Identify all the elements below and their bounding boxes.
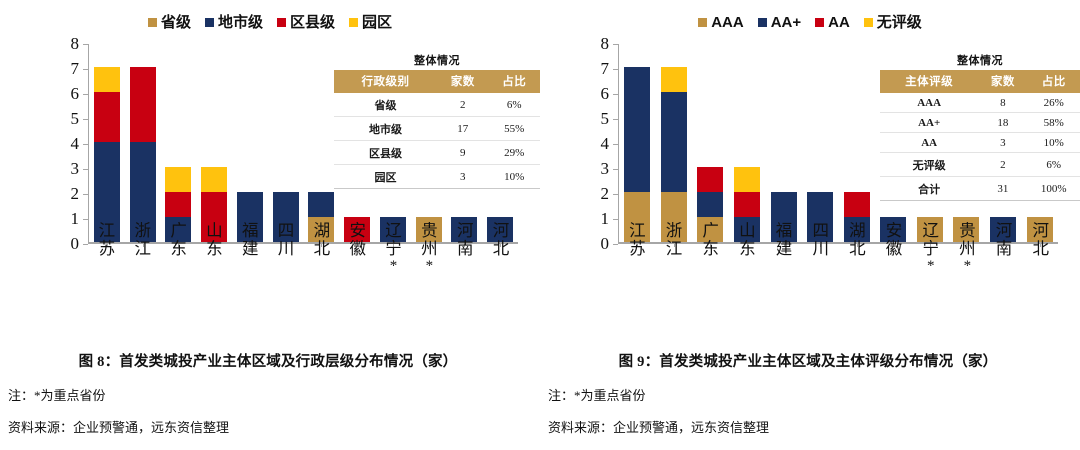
y-tick-label: 3 <box>71 159 80 179</box>
bar-column[interactable] <box>765 44 802 242</box>
bar-stack <box>130 67 156 242</box>
legend-item-园区: 园区 <box>349 15 392 30</box>
y-tick-label: 5 <box>71 109 80 129</box>
x-axis-label: 江苏 <box>89 222 125 274</box>
y-tick <box>613 44 618 45</box>
table-row: 区县级929% <box>334 141 540 165</box>
bar-stack <box>624 67 650 242</box>
y-tick-label: 0 <box>71 234 80 254</box>
table-title: 整体情况 <box>880 52 1080 68</box>
table-body: 省级26%地市级1755%区县级929%园区310% <box>334 93 540 189</box>
table-head: 主体评级家数占比 <box>880 70 1080 93</box>
table-column-header: 占比 <box>1027 70 1080 93</box>
y-tick-label: 2 <box>601 184 610 204</box>
x-axis-label: 湖北 <box>304 222 340 274</box>
y-tick-label: 1 <box>601 209 610 229</box>
x-axis-label: 河南 <box>447 222 483 274</box>
legend-label: AA+ <box>771 15 801 30</box>
y-tick <box>613 219 618 220</box>
table-cell: 10% <box>1027 133 1080 153</box>
bar-segment-AA[interactable] <box>844 192 870 217</box>
table-cell: 55% <box>489 117 541 141</box>
figure-8-panel: 省级地市级区县级园区 012345678 江苏浙江广东山东福建四川湖北安徽辽宁*… <box>0 0 540 450</box>
table-body: AAA826%AA+1858%AA310%无评级26%合计31100% <box>880 93 1080 201</box>
x-labels-right: 江苏浙江广东山东福建四川湖北安徽辽宁*贵州*河南河北 <box>619 222 1059 274</box>
table-column-header: 行政级别 <box>334 70 437 93</box>
bar-column[interactable] <box>89 44 125 242</box>
x-axis-label: 河北 <box>1022 222 1059 274</box>
table-cell: AA+ <box>880 113 978 133</box>
bar-segment-AA[interactable] <box>734 192 760 217</box>
table-cell: 100% <box>1027 177 1080 201</box>
table-row: AA+1858% <box>880 113 1080 133</box>
y-tick-label: 7 <box>601 59 610 79</box>
legend-item-AAA: AAA <box>698 15 744 30</box>
legend-label: 无评级 <box>877 15 922 30</box>
y-tick-label: 8 <box>601 34 610 54</box>
table-row: 合计31100% <box>880 177 1080 201</box>
y-tick-label: 0 <box>601 234 610 254</box>
info-table: 主体评级家数占比 AAA826%AA+1858%AA310%无评级26%合计31… <box>880 70 1080 201</box>
legend-left: 省级地市级区县级园区 <box>0 0 540 34</box>
figure-9-panel: AAAAA+AA无评级 012345678 江苏浙江广东山东福建四川湖北安徽辽宁… <box>540 0 1080 450</box>
y-tick <box>613 169 618 170</box>
legend-label: AAA <box>711 15 744 30</box>
y-tick-label: 8 <box>71 34 80 54</box>
bar-column[interactable] <box>802 44 839 242</box>
table-cell: 园区 <box>334 165 437 189</box>
x-axis-label: 浙江 <box>656 222 693 274</box>
table-cell: AAA <box>880 93 978 113</box>
x-axis-label: 广东 <box>161 222 197 274</box>
table-column-header: 主体评级 <box>880 70 978 93</box>
table-head: 行政级别家数占比 <box>334 70 540 93</box>
bar-segment-地市级[interactable] <box>308 192 334 217</box>
y-tick <box>83 219 88 220</box>
x-axis-label: 安徽 <box>876 222 913 274</box>
legend-item-AA+: AA+ <box>758 15 801 30</box>
y-tick-label: 6 <box>601 84 610 104</box>
table-row: AA310% <box>880 133 1080 153</box>
table-cell: 10% <box>489 165 541 189</box>
y-tick <box>83 144 88 145</box>
figure-source: 资料来源：企业预警通，远东资信整理 <box>546 417 1070 436</box>
legend-item-区县级: 区县级 <box>277 15 335 30</box>
table-cell: AA <box>880 133 978 153</box>
legend-item-AA: AA <box>815 15 850 30</box>
y-tick-label: 1 <box>71 209 80 229</box>
bar-segment-园区[interactable] <box>165 167 191 192</box>
legend-item-无评级: 无评级 <box>864 15 922 30</box>
x-axis-label: 湖北 <box>839 222 876 274</box>
legend-label: 地市级 <box>218 15 263 30</box>
legend-swatch-icon <box>815 18 824 27</box>
legend-label: 园区 <box>362 15 392 30</box>
figure-note: 注：*为重点省份 <box>6 385 530 404</box>
y-tick-label: 7 <box>71 59 80 79</box>
table-cell: 29% <box>489 141 541 165</box>
figure-source: 资料来源：企业预警通，远东资信整理 <box>6 417 530 436</box>
table-cell: 26% <box>1027 93 1080 113</box>
table-cell: 2 <box>437 93 489 117</box>
y-tick <box>83 94 88 95</box>
bar-column[interactable] <box>838 44 875 242</box>
x-axis-label: 浙江 <box>125 222 161 274</box>
y-tick <box>83 194 88 195</box>
bar-column[interactable] <box>268 44 304 242</box>
bar-segment-园区[interactable] <box>201 167 227 192</box>
y-tick <box>613 69 618 70</box>
table-cell: 省级 <box>334 93 437 117</box>
table-title: 整体情况 <box>334 52 540 68</box>
legend-label: 区县级 <box>290 15 335 30</box>
table-cell: 9 <box>437 141 489 165</box>
bar-column[interactable] <box>729 44 766 242</box>
caption-block-left: 图 8：首发类城投产业主体区域及行政层级分布情况（家） 注：*为重点省份 资料来… <box>0 350 540 449</box>
table-cell: 3 <box>978 133 1027 153</box>
y-tick <box>83 44 88 45</box>
figure-caption: 图 8：首发类城投产业主体区域及行政层级分布情况（家） <box>6 350 530 371</box>
figure-caption: 图 9：首发类城投产业主体区域及主体评级分布情况（家） <box>546 350 1070 371</box>
bar-column[interactable] <box>656 44 693 242</box>
y-tick <box>613 94 618 95</box>
table-row: 无评级26% <box>880 153 1080 177</box>
x-axis-label: 四川 <box>268 222 304 274</box>
bar-column[interactable] <box>692 44 729 242</box>
bar-segment-区县级[interactable] <box>94 92 120 142</box>
table-cell: 合计 <box>880 177 978 201</box>
bar-stack <box>94 67 120 242</box>
table-cell: 区县级 <box>334 141 437 165</box>
summary-table-left: 整体情况 行政级别家数占比 省级26%地市级1755%区县级929%园区310% <box>334 52 540 189</box>
legend-right: AAAAA+AA无评级 <box>540 0 1080 34</box>
table-cell: 58% <box>1027 113 1080 133</box>
x-axis-label: 辽宁* <box>912 222 949 274</box>
table-header-row: 行政级别家数占比 <box>334 70 540 93</box>
legend-swatch-icon <box>148 18 157 27</box>
x-axis-label: 贵州* <box>949 222 986 274</box>
y-tick-label: 5 <box>601 109 610 129</box>
table-row: 省级26% <box>334 93 540 117</box>
table-row: AAA826% <box>880 93 1080 113</box>
legend-swatch-icon <box>205 18 214 27</box>
legend-swatch-icon <box>758 18 767 27</box>
table-cell: 无评级 <box>880 153 978 177</box>
bar-segment-区县级[interactable] <box>130 67 156 142</box>
x-axis-label: 福建 <box>766 222 803 274</box>
x-axis-label: 安徽 <box>340 222 376 274</box>
bar-segment-AA[interactable] <box>697 167 723 192</box>
legend-swatch-icon <box>277 18 286 27</box>
legend-swatch-icon <box>864 18 873 27</box>
y-tick <box>83 169 88 170</box>
table-cell: 31 <box>978 177 1027 201</box>
bar-segment-AA+[interactable] <box>697 192 723 217</box>
legend-item-省级: 省级 <box>148 15 191 30</box>
x-axis-label: 江苏 <box>619 222 656 274</box>
legend-item-地市级: 地市级 <box>205 15 263 30</box>
table-row: 地市级1755% <box>334 117 540 141</box>
x-axis-label: 山东 <box>196 222 232 274</box>
y-tick <box>83 244 88 245</box>
table-cell: 18 <box>978 113 1027 133</box>
y-tick <box>83 119 88 120</box>
x-labels-left: 江苏浙江广东山东福建四川湖北安徽辽宁*贵州*河南河北 <box>89 222 519 274</box>
bar-column[interactable] <box>196 44 232 242</box>
bar-segment-区县级[interactable] <box>165 192 191 217</box>
x-axis-label: 四川 <box>802 222 839 274</box>
table-cell: 17 <box>437 117 489 141</box>
bar-stack <box>661 67 687 242</box>
table-column-header: 占比 <box>489 70 541 93</box>
y-tick-label: 2 <box>71 184 80 204</box>
legend-swatch-icon <box>349 18 358 27</box>
x-axis-label: 福建 <box>232 222 268 274</box>
y-tick-label: 4 <box>601 134 610 154</box>
x-axis-label: 山东 <box>729 222 766 274</box>
x-axis-label: 辽宁* <box>376 222 412 274</box>
bar-column[interactable] <box>232 44 268 242</box>
y-tick <box>83 69 88 70</box>
x-axis-label: 广东 <box>692 222 729 274</box>
legend-label: AA <box>828 15 850 30</box>
y-tick <box>613 144 618 145</box>
figure-note: 注：*为重点省份 <box>546 385 1070 404</box>
bar-segment-AA+[interactable] <box>661 92 687 192</box>
x-axis-label: 贵州* <box>411 222 447 274</box>
figures-page: 省级地市级区县级园区 012345678 江苏浙江广东山东福建四川湖北安徽辽宁*… <box>0 0 1080 450</box>
y-tick-label: 3 <box>601 159 610 179</box>
x-axis-label: 河北 <box>483 222 519 274</box>
legend-swatch-icon <box>698 18 707 27</box>
bar-column[interactable] <box>125 44 161 242</box>
table-cell: 6% <box>489 93 541 117</box>
table-column-header: 家数 <box>978 70 1027 93</box>
bar-segment-AA+[interactable] <box>624 67 650 192</box>
x-axis-label: 河南 <box>986 222 1023 274</box>
summary-table-right: 整体情况 主体评级家数占比 AAA826%AA+1858%AA310%无评级26… <box>880 52 1080 201</box>
table-row: 园区310% <box>334 165 540 189</box>
y-tick-label: 6 <box>71 84 80 104</box>
bar-column[interactable] <box>619 44 656 242</box>
y-tick <box>613 119 618 120</box>
table-header-row: 主体评级家数占比 <box>880 70 1080 93</box>
table-column-header: 家数 <box>437 70 489 93</box>
table-cell: 3 <box>437 165 489 189</box>
bar-segment-无评级[interactable] <box>734 167 760 192</box>
bar-segment-园区[interactable] <box>94 67 120 92</box>
info-table: 行政级别家数占比 省级26%地市级1755%区县级929%园区310% <box>334 70 540 189</box>
y-tick <box>613 194 618 195</box>
table-cell: 8 <box>978 93 1027 113</box>
table-cell: 2 <box>978 153 1027 177</box>
bar-segment-无评级[interactable] <box>661 67 687 92</box>
table-cell: 6% <box>1027 153 1080 177</box>
y-tick-label: 4 <box>71 134 80 154</box>
y-tick <box>613 244 618 245</box>
legend-label: 省级 <box>161 15 191 30</box>
caption-block-right: 图 9：首发类城投产业主体区域及主体评级分布情况（家） 注：*为重点省份 资料来… <box>540 350 1080 449</box>
bar-column[interactable] <box>161 44 197 242</box>
table-cell: 地市级 <box>334 117 437 141</box>
